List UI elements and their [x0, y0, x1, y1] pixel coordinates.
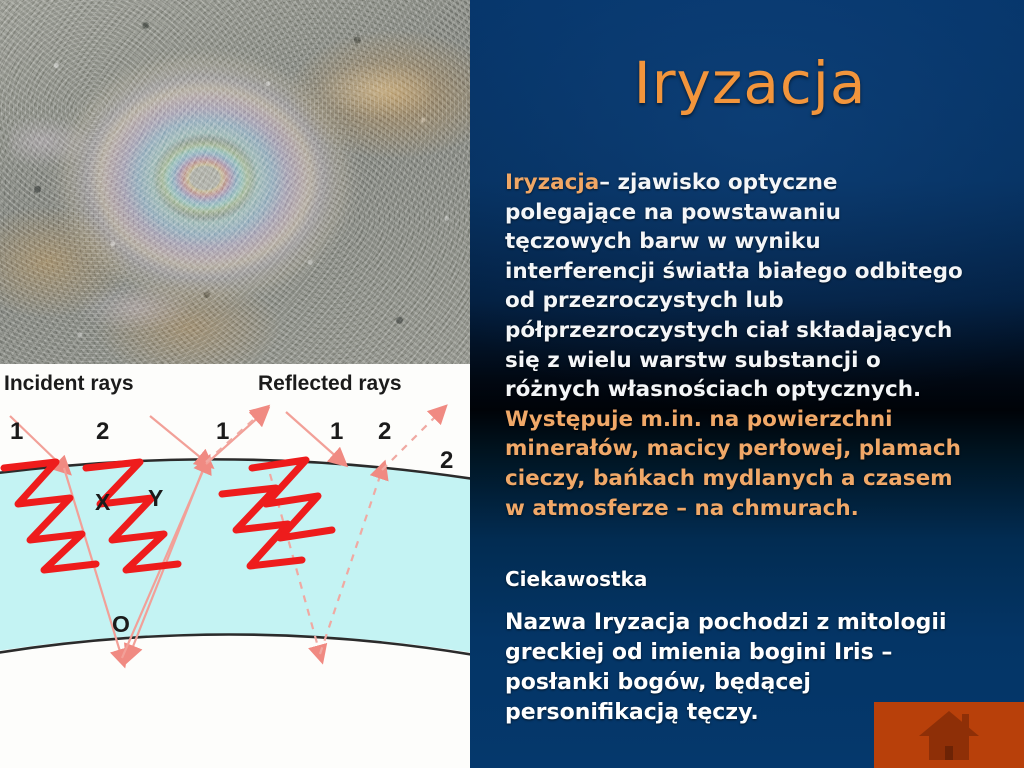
presentation-slide: Incident rays Reflected rays 1 2 1 1 2 2… [0, 0, 1024, 768]
oil-slick-photo [0, 0, 470, 364]
home-button[interactable] [874, 702, 1024, 768]
label-incident-rays: Incident rays [4, 372, 134, 395]
definition-white-text: zjawisko optyczne polegające na powstawa… [505, 170, 963, 402]
ray-number-2c: 2 [440, 447, 453, 474]
definition-accent-text: Występuje m.in. na powierzchni minerałów… [505, 407, 961, 521]
definition-dash: – [599, 170, 617, 195]
point-label-x: X [95, 489, 111, 515]
definition-paragraph: Iryzacja– zjawisko optyczne polegające n… [505, 168, 965, 523]
home-icon [916, 708, 982, 762]
ray-number-1c: 1 [330, 418, 343, 445]
point-label-y: Y [148, 485, 163, 511]
definition-term: Iryzacja [505, 170, 599, 195]
label-reflected-rays: Reflected rays [258, 372, 402, 395]
photo-grain [0, 0, 470, 364]
fact-heading: Ciekawostka [505, 566, 975, 592]
ray-number-2a: 2 [96, 418, 109, 445]
diagram-svg: Incident rays Reflected rays 1 2 1 1 2 2… [0, 364, 470, 768]
slide-title: Iryzacja [500, 52, 1000, 114]
definition-block: Iryzacja– zjawisko optyczne polegające n… [505, 168, 965, 523]
ray-number-1a: 1 [10, 418, 23, 445]
thin-film-diagram: Incident rays Reflected rays 1 2 1 1 2 2… [0, 364, 470, 768]
ray-number-2b: 2 [378, 418, 391, 445]
point-label-o: O [112, 611, 130, 637]
ray-number-1b: 1 [216, 418, 229, 445]
